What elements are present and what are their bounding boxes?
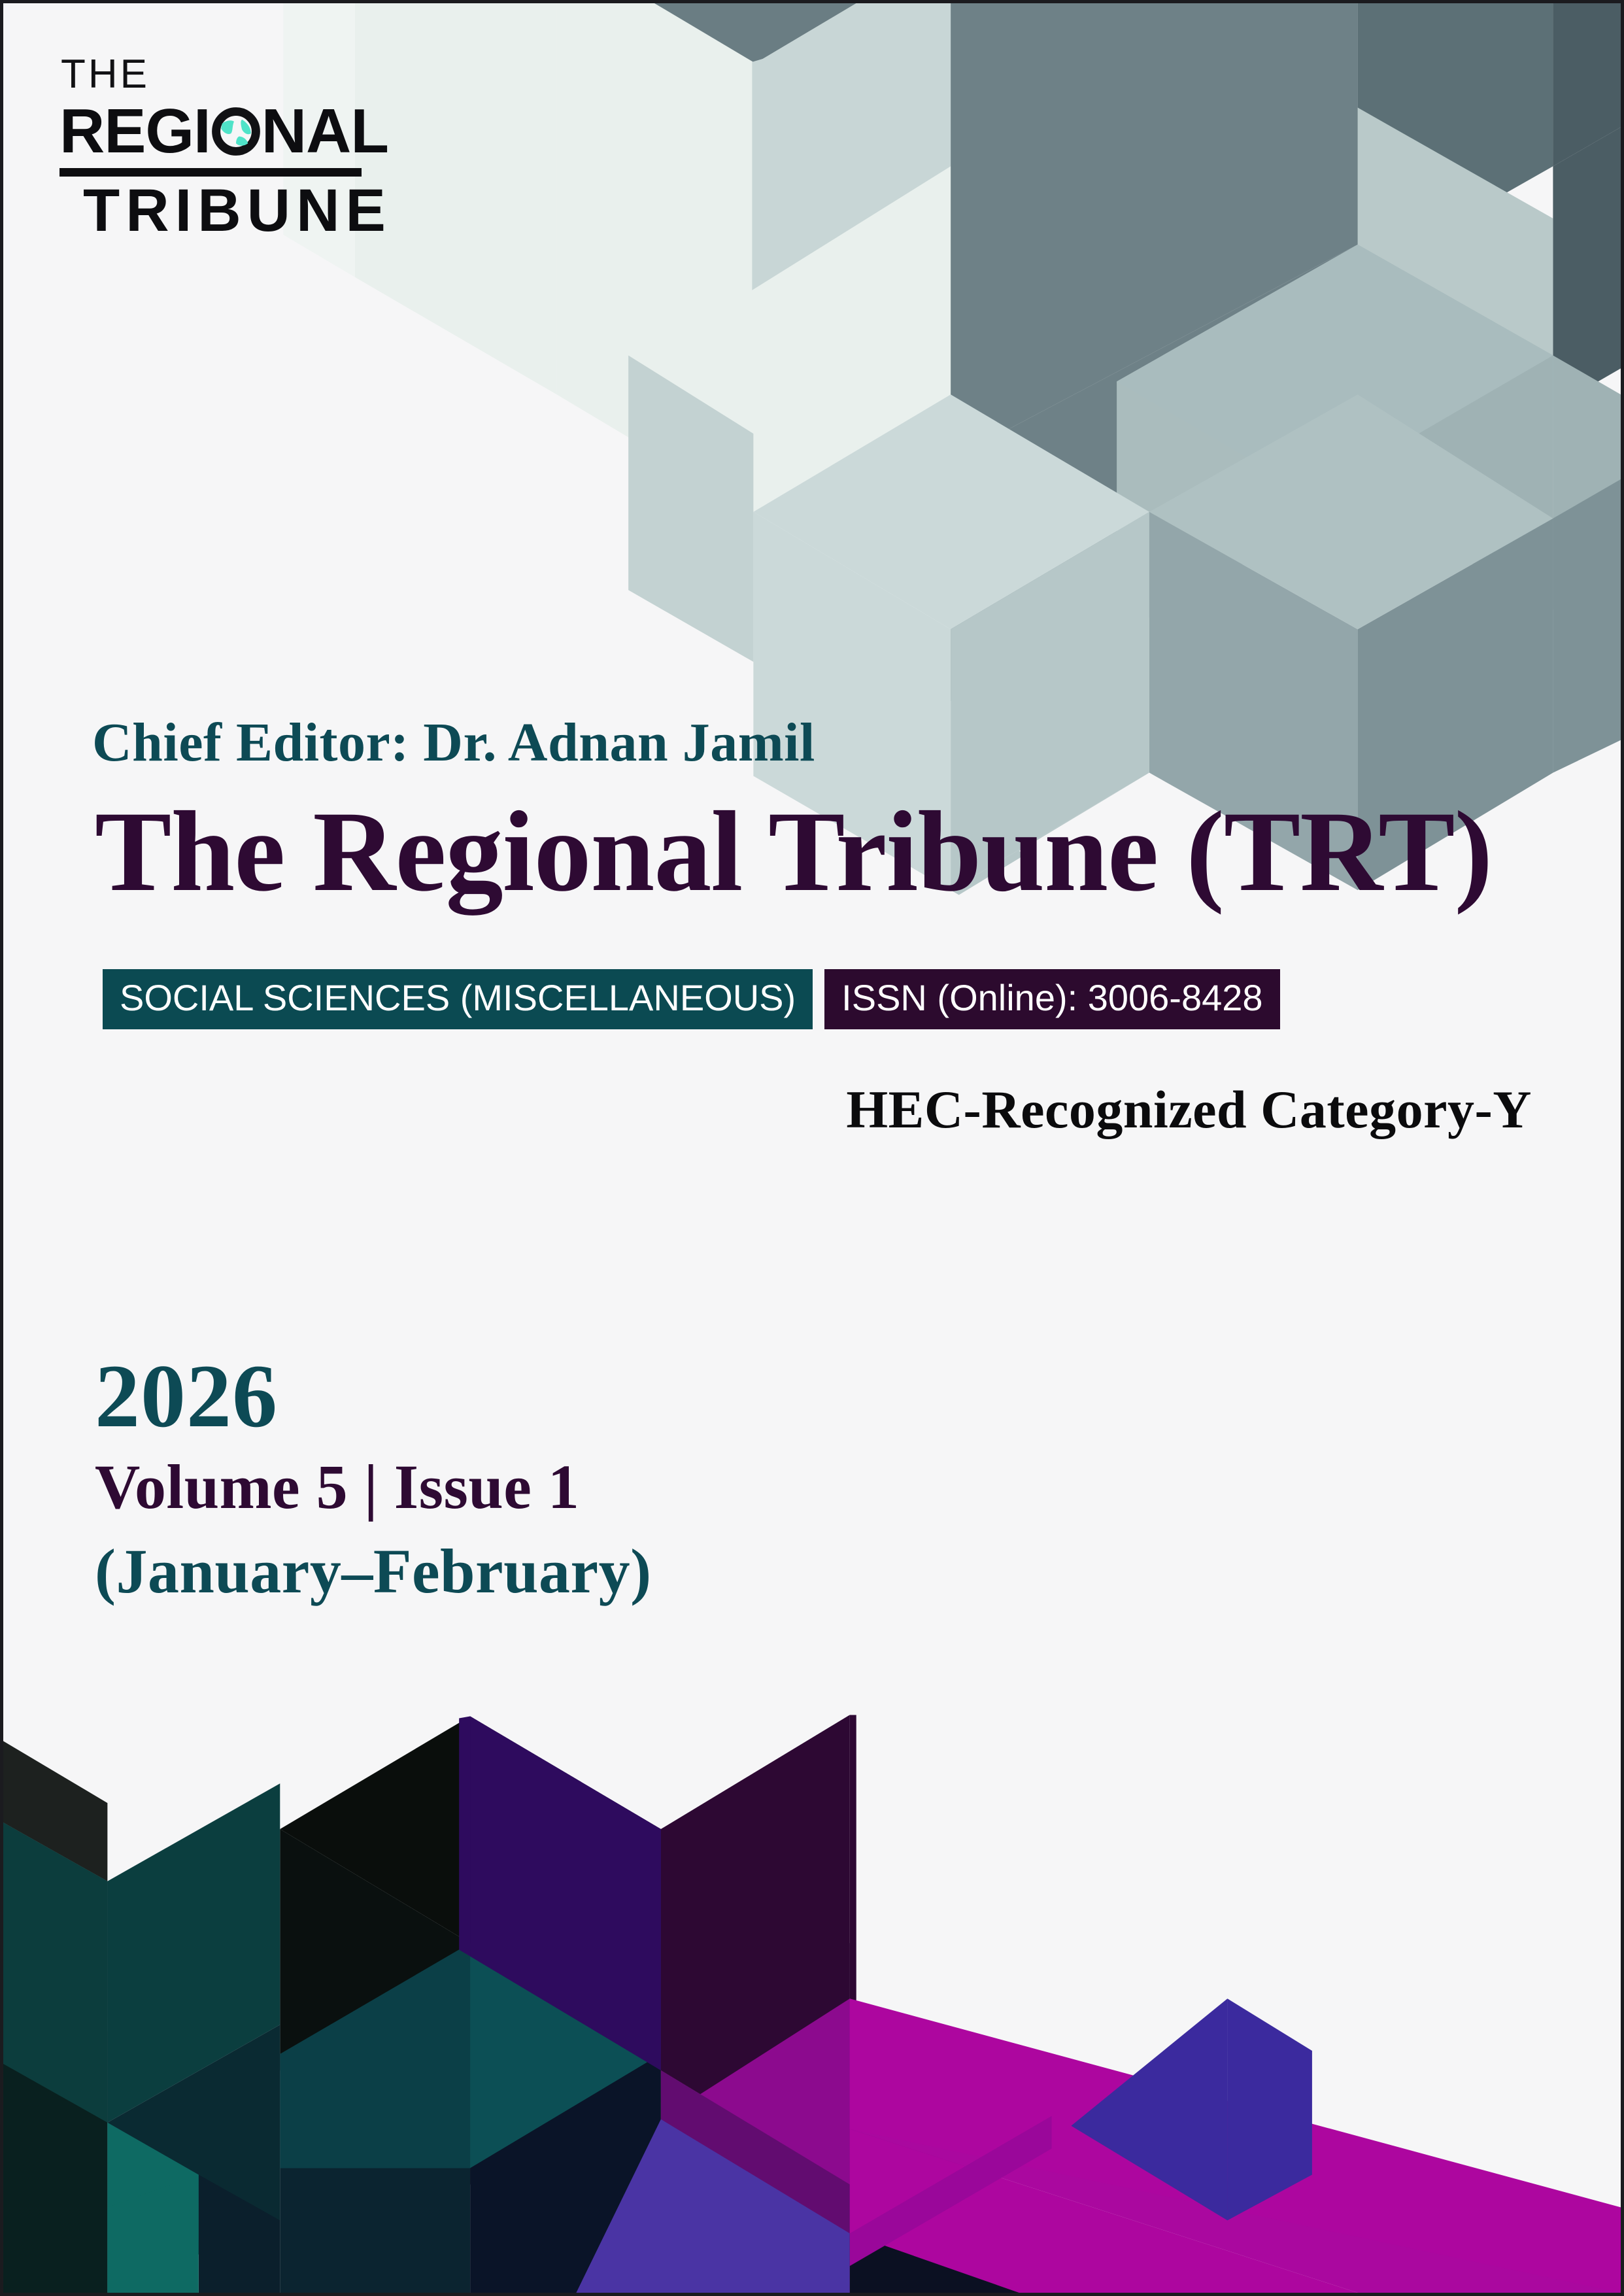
issue-info-block: 2026 Volume 5 | Issue 1 (January–Februar…: [95, 1350, 652, 1609]
top-isometric-pattern: [3, 3, 1621, 2293]
issue-volume-number: Volume 5 | Issue 1: [95, 1449, 652, 1524]
journal-title: The Regional Tribune (TRT): [95, 795, 1492, 910]
logo-divider-rule: [59, 168, 362, 177]
badge-row: SOCIAL SCIENCES (MISCELLANEOUS) ISSN (On…: [103, 969, 1280, 1029]
issn-badge: ISSN (Online): 3006-8428: [824, 969, 1279, 1029]
logo-regional-before: REGI: [59, 100, 211, 163]
bottom-cube-cluster: [3, 1715, 1621, 2293]
bottom-isometric-pattern: [3, 3, 1621, 2293]
logo-regional-row: REGI NAL: [59, 100, 367, 163]
logo-tribune-text: TRIBUNE: [83, 179, 367, 243]
hec-recognition-label: HEC-Recognized Category-Y: [846, 1079, 1532, 1140]
journal-logo: THE REGI NAL TRIBUNE: [59, 54, 367, 243]
logo-the-text: THE: [61, 54, 367, 95]
issue-months: (January–February): [95, 1534, 652, 1609]
logo-regional-after: NAL: [262, 100, 388, 163]
subject-badge: SOCIAL SCIENCES (MISCELLANEOUS): [103, 969, 813, 1029]
issue-year: 2026: [95, 1350, 652, 1443]
journal-cover-page: THE REGI NAL TRIBUNE Chief Editor: Dr. A…: [0, 0, 1624, 2296]
chief-editor-label: Chief Editor: Dr. Adnan Jamil: [92, 711, 815, 774]
globe-icon: [211, 107, 261, 156]
